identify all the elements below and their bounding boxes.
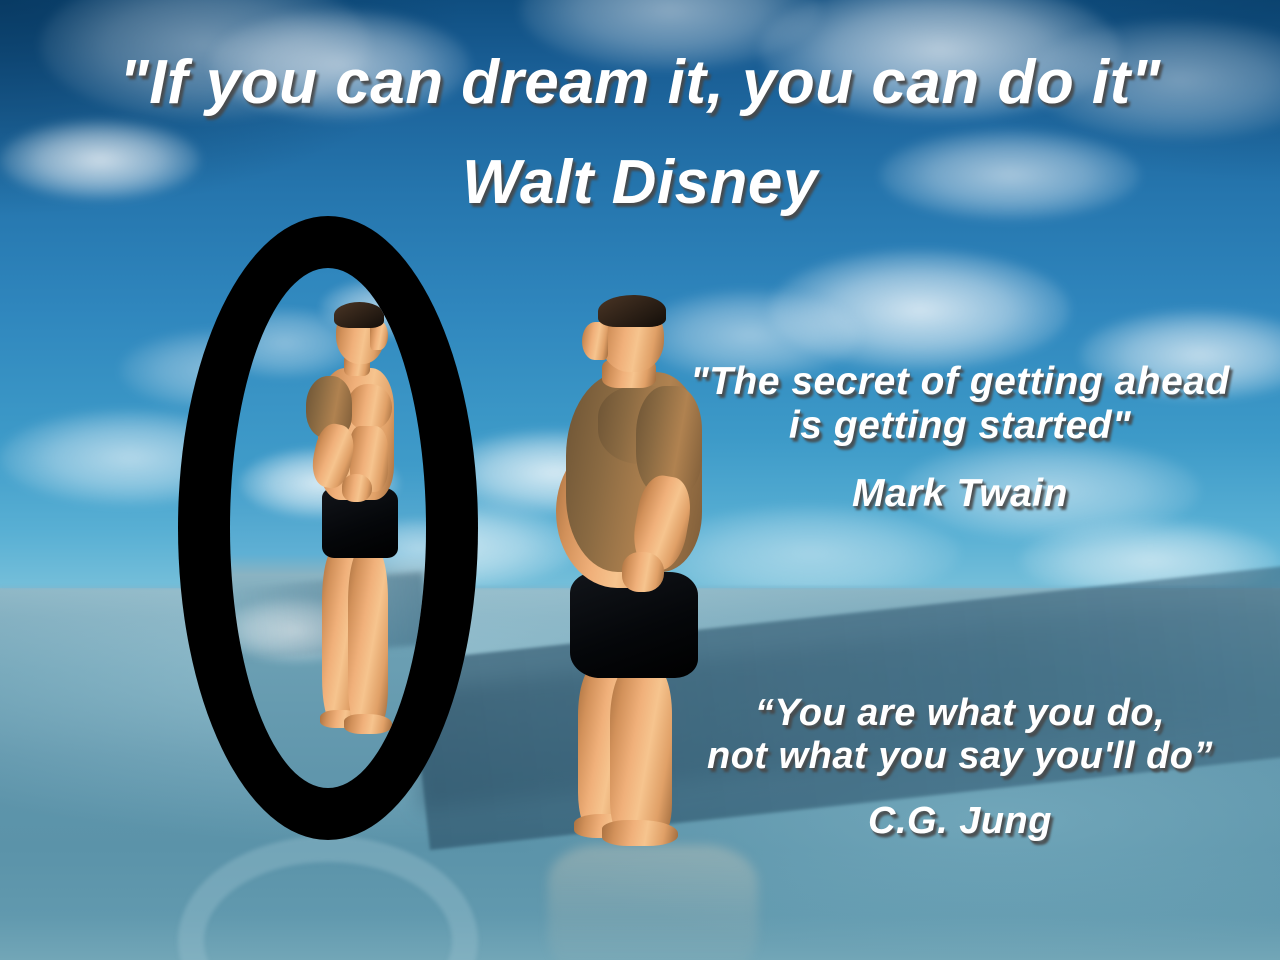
fit-hair bbox=[334, 302, 384, 328]
jung-line-1: “You are what you do, bbox=[755, 692, 1165, 734]
heavy-hand bbox=[622, 552, 664, 592]
fit-hand bbox=[342, 474, 372, 502]
twain-quote-author: Mark Twain bbox=[650, 472, 1270, 516]
twain-quote-text: "The secret of getting ahead is getting … bbox=[650, 360, 1270, 447]
twain-line-2: is getting started" bbox=[789, 404, 1131, 447]
twain-line-1: "The secret of getting ahead bbox=[690, 360, 1230, 403]
disney-quote-text: "If you can dream it, you can do it" bbox=[0, 48, 1280, 117]
jung-line-2: not what you say you'll do” bbox=[707, 735, 1213, 777]
heavy-face bbox=[582, 322, 608, 360]
jung-quote-author: C.G. Jung bbox=[640, 800, 1280, 843]
fit-leg-front bbox=[348, 550, 388, 726]
mirror-glass bbox=[230, 268, 426, 788]
motivational-poster: "If you can dream it, you can do it" Wal… bbox=[0, 0, 1280, 960]
heavy-man-floor-reflection bbox=[548, 845, 758, 960]
heavy-hair bbox=[598, 295, 666, 327]
jung-quote-text: “You are what you do, not what you say y… bbox=[640, 692, 1280, 777]
fit-chest bbox=[348, 384, 392, 430]
sky-vignette-right bbox=[720, 0, 1280, 260]
oval-mirror bbox=[178, 216, 478, 840]
fit-foot-front bbox=[344, 714, 392, 734]
disney-quote-author: Walt Disney bbox=[0, 148, 1280, 217]
fit-man-reflection bbox=[292, 306, 426, 786]
